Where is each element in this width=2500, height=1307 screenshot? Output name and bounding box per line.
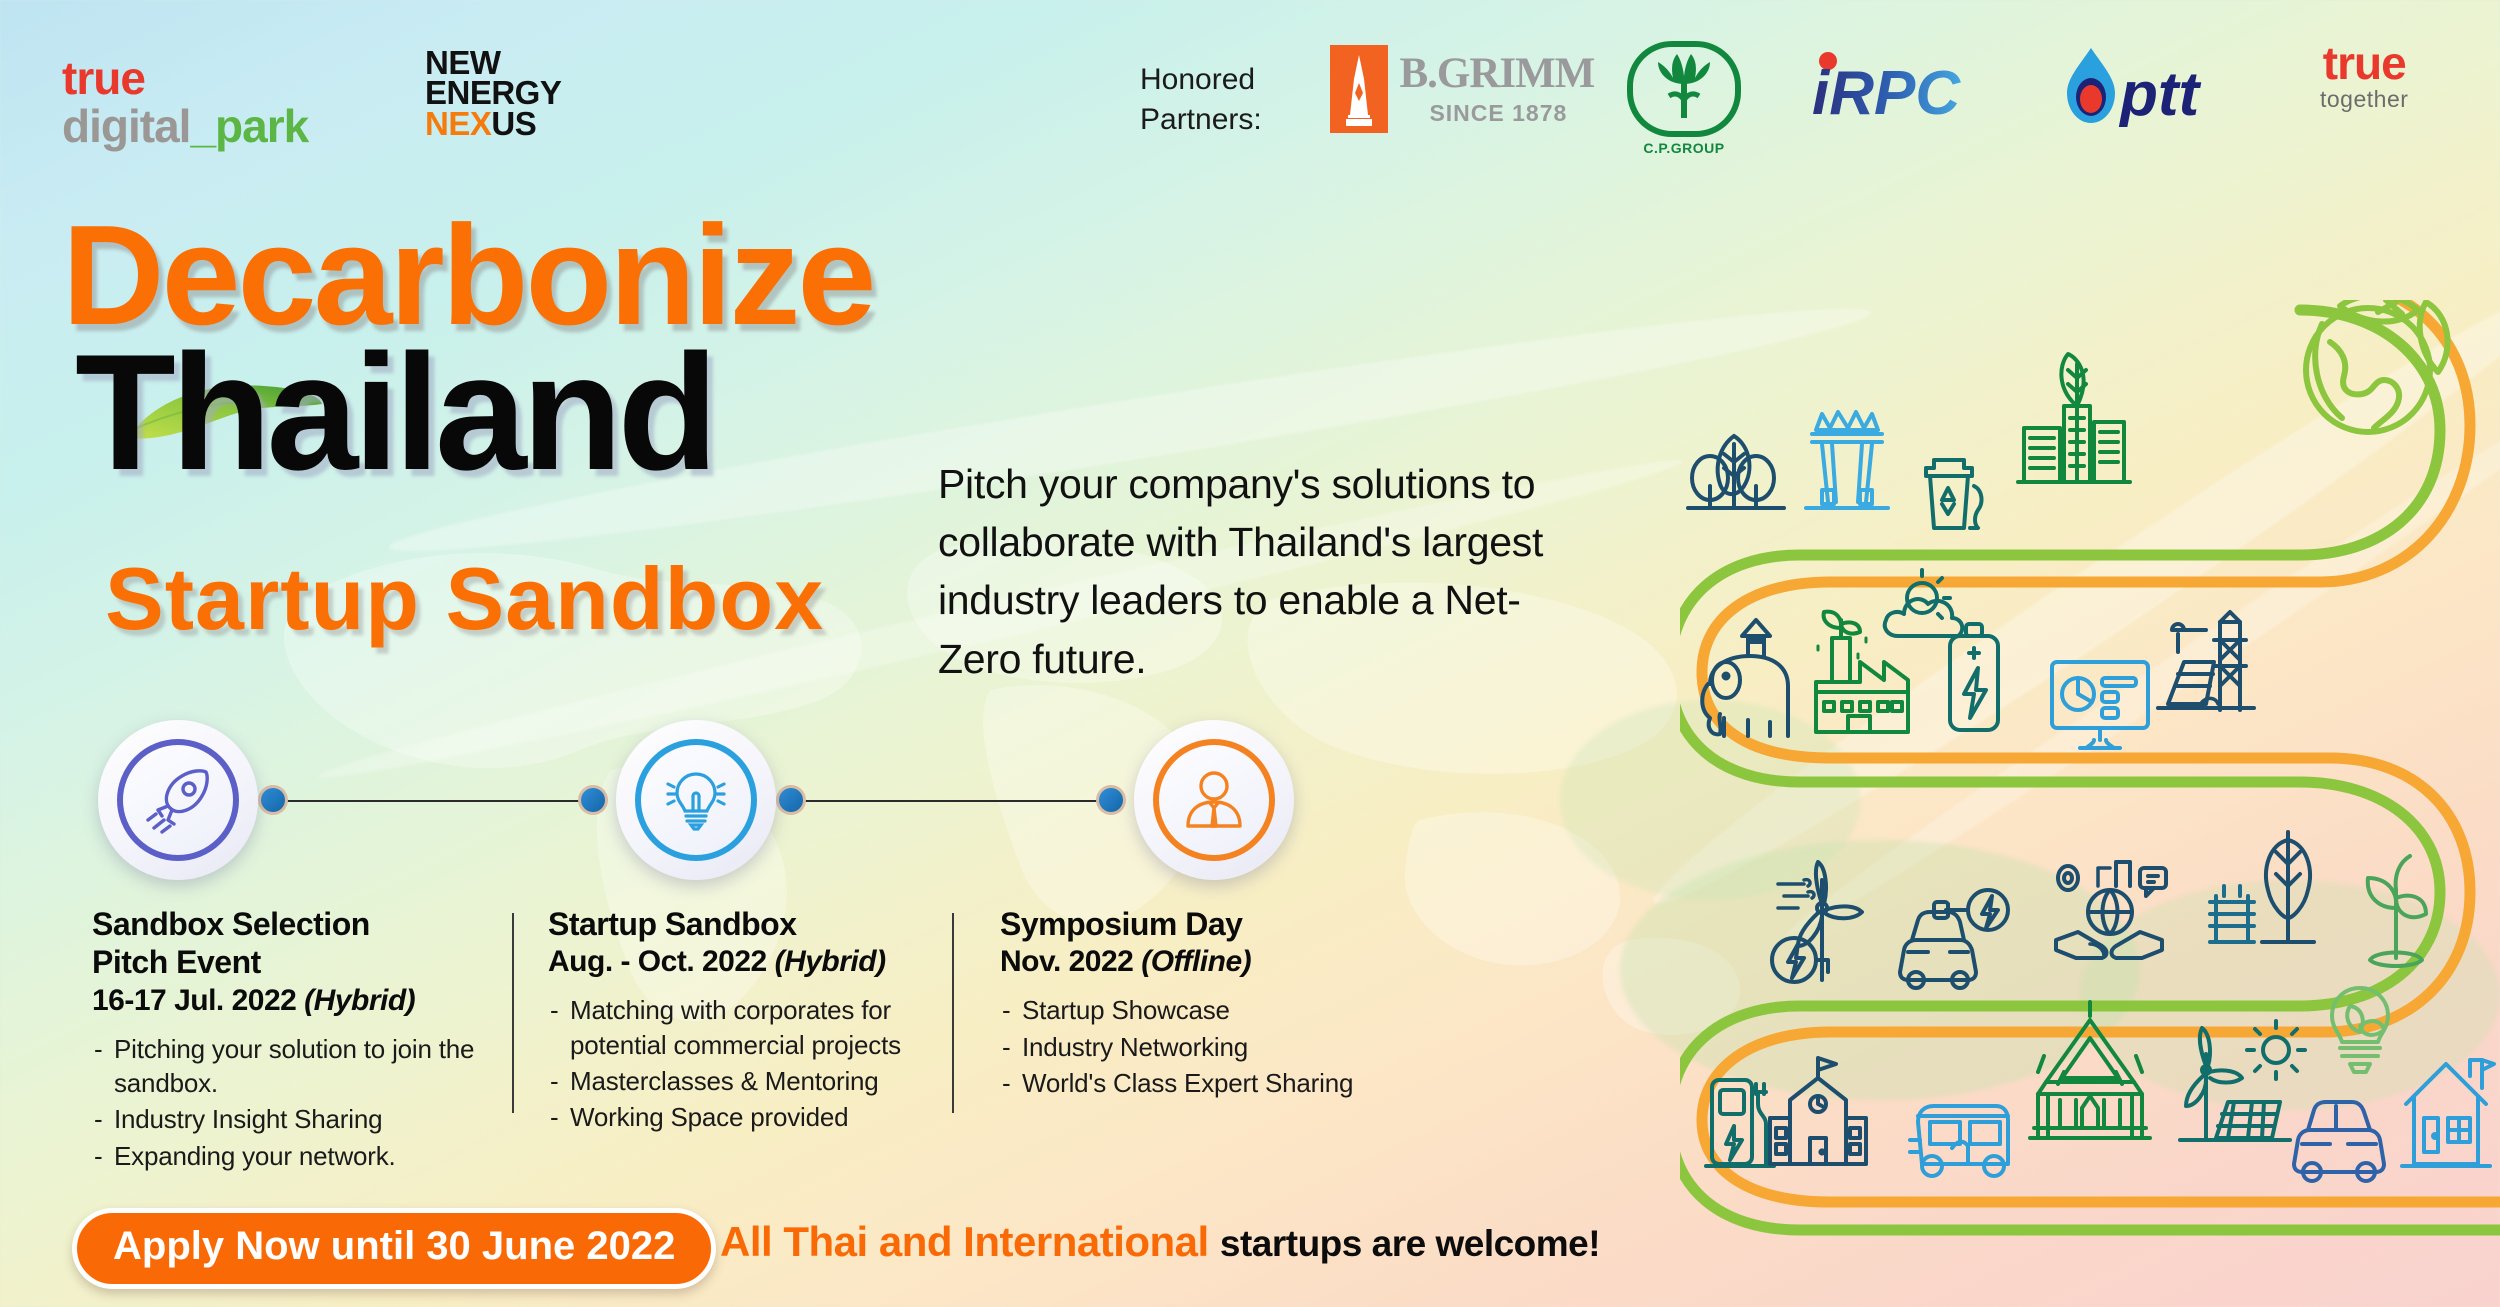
timeline-step-1[interactable] [98,720,258,880]
honored-partners-label: Honored Partners: [1140,60,1262,139]
detail-2-title-line1: Startup Sandbox [548,905,968,943]
page-title-startup-sandbox: Startup Sandbox [105,555,824,643]
battery-icon [1950,624,1998,730]
list-item: Industry Insight Sharing [92,1102,492,1136]
partner-logo-bgrimm[interactable]: B.GRIMM SINCE 1878 [1330,45,1594,133]
detail-3-date-text: Nov. 2022 [1000,945,1133,978]
winding-path-graphic [1680,300,2500,1300]
apply-now-button[interactable]: Apply Now until 30 June 2022 [72,1208,716,1289]
tdp-park-text: _park [190,100,308,152]
list-item: Pitching your solution to join the sandb… [92,1032,492,1101]
wind-turbine-energy-icon [1772,862,1862,982]
eco-journey-illustration [1680,300,2500,1300]
timeline-details: Sandbox Selection Pitch Event 16-17 Jul.… [0,905,1420,1235]
nen-line3: NEXUS [425,109,561,139]
detail-2-date: Aug. - Oct. 2022 (Hybrid) [548,945,968,979]
svg-text:iRPC: iRPC [1812,59,1961,122]
wind-solar-sun-icon [2180,1021,2305,1140]
detail-1-date: 16-17 Jul. 2022 (Hybrid) [92,984,492,1018]
detail-1-bullets: Pitching your solution to join the sandb… [92,1032,492,1173]
green-factory-icon [1816,612,1908,732]
tdp-digital-text: digital [62,100,190,152]
timeline-dot-3 [776,785,806,815]
rocket-icon [142,764,214,836]
ev-car-charging-icon [1900,890,2008,988]
detail-2-mode: (Hybrid) [775,945,886,978]
detail-2-bullets: Matching with corporates for potential c… [548,993,968,1134]
ptt-wordmark-icon: ptt [2060,45,2260,127]
svg-text:ptt: ptt [2118,60,2202,127]
list-item: Startup Showcase [1000,993,1430,1027]
timeline-detail-1: Sandbox Selection Pitch Event 16-17 Jul.… [92,905,492,1175]
logo-new-energy-nexus[interactable]: NEW ENERGY NEXUS [425,48,561,139]
cpgroup-name: C.P.GROUP [1625,140,1743,156]
partner-logo-cpgroup[interactable]: C.P.GROUP [1625,40,1743,156]
detail-3-date: Nov. 2022 (Offline) [1000,945,1430,979]
cp-tree-icon [1625,40,1743,138]
timeline-connector-2 [790,800,1110,802]
detail-1-date-text: 16-17 Jul. 2022 [92,984,296,1017]
welcome-note-orange: All Thai and International [720,1218,1209,1265]
person-icon [1178,764,1250,836]
timeline-detail-3: Symposium Day Nov. 2022 (Offline) Startu… [1000,905,1430,1102]
trees-icon [1688,435,1787,508]
bgrimm-wordmark: B.GRIMM SINCE 1878 [1399,52,1594,127]
true-name: true [2320,42,2408,86]
school-building-icon [1770,1058,1866,1164]
honored-line2: Partners: [1140,100,1262,140]
timeline-step-2-ring [635,739,757,861]
partner-logo-true-together[interactable]: true together [2320,42,2408,113]
timeline-dot-1 [258,785,288,815]
welcome-note-black: startups are welcome! [1220,1223,1600,1264]
true-tagline: together [2320,86,2408,113]
solar-pylon-icon [2158,612,2254,710]
lightbulb-icon [660,764,732,836]
handshake-globe-icon [2056,862,2166,958]
list-item: Working Space provided [548,1100,968,1134]
partner-logo-ptt[interactable]: ptt [2060,45,2260,132]
timeline-step-3[interactable] [1134,720,1294,880]
detail-3-title-line1: Symposium Day [1000,905,1430,943]
logo-true-digital-park[interactable]: true digital_park [62,55,308,149]
nen-nex-text: NEX [425,105,491,142]
bgrimm-name: B.GRIMM [1399,52,1594,95]
city-buildings-icon [2018,354,2130,482]
partner-logo-irpc[interactable]: iRPC [1810,48,2000,127]
detail-1-title-line2: Pitch Event [92,943,492,981]
timeline [0,720,1400,920]
bgrimm-since: SINCE 1878 [1429,100,1594,127]
tdp-true-text: true [62,55,308,101]
timeline-step-1-ring [117,739,239,861]
bench-tree-icon [2210,886,2254,942]
detail-1-title-line1: Sandbox Selection [92,905,492,943]
timeline-step-2[interactable] [616,720,776,880]
timeline-step-3-ring [1153,739,1275,861]
list-item: World's Class Expert Sharing [1000,1066,1430,1100]
tuktuk-icon [1910,1106,2008,1176]
pagoda-icon [1342,53,1376,129]
detail-1-mode: (Hybrid) [304,984,415,1017]
blue-car-icon [2294,1102,2384,1181]
welcome-note: All Thai and International startups are … [720,1218,1600,1266]
detail-2-date-text: Aug. - Oct. 2022 [548,945,767,978]
column-divider-1 [512,913,514,1113]
dashboard-monitor-icon [2052,662,2148,748]
page-title-thailand: Thailand [75,330,713,495]
tree-tall-icon [2262,832,2314,942]
timeline-dot-2 [578,785,608,815]
hero-tagline: Pitch your company's solutions to collab… [938,455,1598,688]
bgrimm-emblem-icon [1330,45,1388,133]
honored-line1: Honored [1140,60,1262,100]
detail-3-mode: (Offline) [1141,945,1251,978]
nen-us-text: US [491,105,536,142]
list-item: Matching with corporates for potential c… [548,993,968,1062]
list-item: Industry Networking [1000,1030,1430,1064]
list-item: Masterclasses & Mentoring [548,1064,968,1098]
house-icon [2402,1060,2494,1166]
timeline-dot-4 [1096,785,1126,815]
thai-temple-icon [2030,1002,2150,1138]
detail-3-bullets: Startup Showcase Industry Networking Wor… [1000,993,1430,1100]
list-item: Expanding your network. [92,1139,492,1173]
timeline-detail-2: Startup Sandbox Aug. - Oct. 2022 (Hybrid… [548,905,968,1137]
tdp-digitalpark-text: digital_park [62,103,308,149]
timeline-connector-1 [272,800,592,802]
irpc-wordmark-icon: iRPC [1810,48,2000,122]
header: true digital_park NEW ENERGY NEXUS Honor… [0,0,2500,150]
